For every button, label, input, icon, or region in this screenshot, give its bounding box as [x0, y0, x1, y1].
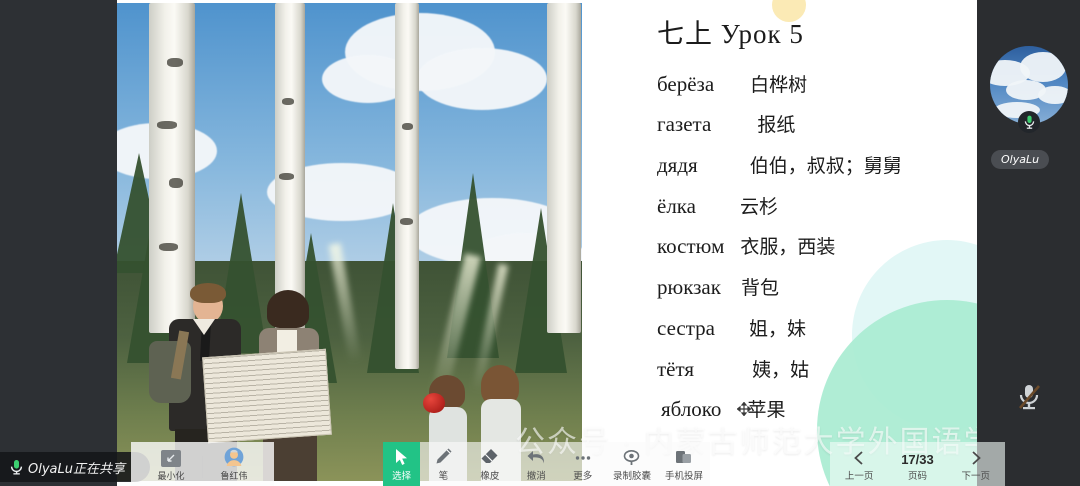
bark-mark	[159, 243, 178, 251]
bark-mark	[279, 173, 294, 180]
vocab-russian: яблоко	[661, 397, 721, 422]
tool-record[interactable]: 录制胶囊	[606, 442, 658, 486]
share-status-bar[interactable]: OlyaLu正在共享	[0, 452, 150, 482]
tool-undo[interactable]: 撤消	[513, 442, 559, 486]
tool-phone-cast-label: 手机投屏	[665, 468, 703, 482]
slide-photograph	[117, 3, 582, 481]
vocabulary-list: 七上 Урок 5 берёза 白桦树 газета 报纸 дядя 伯伯，叔…	[617, 0, 977, 486]
minimize-button[interactable]: 最小化	[142, 450, 200, 486]
bark-mark	[402, 123, 413, 130]
minimize-icon	[161, 450, 181, 467]
vocab-russian: дядя	[657, 153, 698, 178]
vocab-chinese: 伯伯，叔叔；舅舅	[750, 151, 902, 178]
user-avatar-icon	[224, 447, 244, 467]
cursor-arrow-icon	[394, 448, 409, 466]
red-apple	[423, 393, 445, 413]
vocab-chinese: 衣服，西装	[740, 232, 835, 259]
page-navigation-bar[interactable]: 上一页 17/33 页码 下一页	[830, 442, 1005, 486]
eraser-icon	[480, 447, 499, 466]
vocab-chinese: 背包	[741, 273, 779, 300]
tool-undo-label: 撤消	[527, 468, 546, 482]
vocabulary-row: тётя 姨，姑	[657, 355, 809, 382]
tool-eraser-label: 橡皮	[480, 468, 499, 482]
slide-title: 七上 Урок 5	[657, 12, 804, 51]
vocabulary-row: дядя 伯伯，叔叔；舅舅	[657, 151, 902, 178]
tool-pen-label: 笔	[439, 468, 449, 482]
vocab-chinese: 白桦树	[750, 70, 807, 97]
vocab-russian: рюкзак	[657, 275, 721, 300]
tool-more-label: 更多	[573, 468, 592, 482]
host-control-bar[interactable]: 最小化 鲁红伟	[131, 442, 274, 486]
vocab-russian: костюм	[657, 234, 724, 259]
participant-name-label: OlyaLu	[991, 150, 1049, 169]
page-counter: 17/33	[901, 452, 934, 467]
vocabulary-row: ёлка 云杉	[657, 192, 778, 219]
vocabulary-row: газета 报纸	[657, 110, 795, 137]
vocab-chinese: 云杉	[740, 192, 778, 219]
vocabulary-row: берёза 白桦树	[657, 70, 807, 97]
cloud	[417, 48, 547, 110]
prev-page-label: 上一页	[845, 468, 874, 482]
chevron-right-icon	[967, 449, 985, 467]
page-counter-label: 页码	[908, 468, 927, 482]
share-status-label: OlyaLu正在共享	[28, 458, 125, 477]
move-cursor-icon	[737, 402, 751, 416]
shared-slide: 七上 Урок 5 берёза 白桦树 газета 报纸 дядя 伯伯，叔…	[117, 0, 977, 486]
bark-mark	[282, 98, 294, 105]
tool-select[interactable]: 选择	[383, 442, 420, 486]
newspaper	[202, 349, 332, 443]
bark-mark	[400, 218, 413, 225]
man-hair	[190, 283, 226, 303]
vocab-russian: берёза	[657, 72, 714, 97]
tool-select-label: 选择	[392, 468, 411, 482]
ellipsis-icon	[573, 449, 593, 466]
annotation-toolbar[interactable]: 选择 笔 橡皮 撤消	[383, 442, 710, 486]
vocab-russian: газета	[657, 112, 711, 137]
tool-phone-cast[interactable]: 手机投屏	[658, 442, 710, 486]
vocab-russian: ёлка	[657, 194, 696, 219]
bark-mark	[167, 58, 183, 67]
pen-icon	[434, 447, 453, 466]
divider	[202, 456, 203, 478]
vocab-russian: сестра	[657, 316, 715, 341]
vocab-chinese: 苹果	[747, 395, 785, 422]
chevron-left-icon	[850, 449, 868, 467]
tool-record-label: 录制胶囊	[613, 468, 651, 482]
vocabulary-row: рюкзак 背包	[657, 273, 779, 300]
tool-pen[interactable]: 笔	[420, 442, 466, 486]
vocabulary-row: яблоко 苹果	[661, 395, 785, 422]
next-page-button[interactable]: 下一页	[950, 449, 1002, 486]
vocabulary-row: сестра 姐，妹	[657, 314, 806, 341]
minimize-label: 最小化	[157, 469, 184, 482]
woman-hair	[267, 290, 309, 328]
record-icon	[622, 448, 641, 466]
next-page-label: 下一页	[962, 468, 991, 482]
participant-button[interactable]: 鲁红伟	[205, 447, 263, 486]
vocab-russian: тётя	[657, 357, 694, 382]
participant-label: 鲁红伟	[220, 469, 247, 482]
microphone-icon	[10, 459, 23, 475]
microphone-icon	[1018, 111, 1040, 133]
birch-trunk	[547, 3, 581, 333]
vocab-chinese: 报纸	[757, 110, 795, 137]
prev-page-button[interactable]: 上一页	[833, 449, 885, 486]
vocabulary-row: костюм 衣服，西装	[657, 232, 835, 259]
bark-mark	[169, 178, 183, 188]
phone-cast-icon	[674, 448, 693, 466]
vocab-chinese: 姐，妹	[749, 314, 806, 341]
bark-mark	[157, 121, 177, 129]
vocab-chinese: 姨，姑	[752, 355, 809, 382]
tool-eraser[interactable]: 橡皮	[467, 442, 513, 486]
undo-icon	[526, 449, 546, 466]
birch-trunk	[395, 3, 419, 369]
page-counter-group[interactable]: 17/33 页码	[891, 452, 943, 486]
mic-off-icon[interactable]	[1010, 378, 1048, 416]
participant-video-tile[interactable]: OlyaLu	[977, 0, 1080, 486]
tool-more[interactable]: 更多	[560, 442, 606, 486]
